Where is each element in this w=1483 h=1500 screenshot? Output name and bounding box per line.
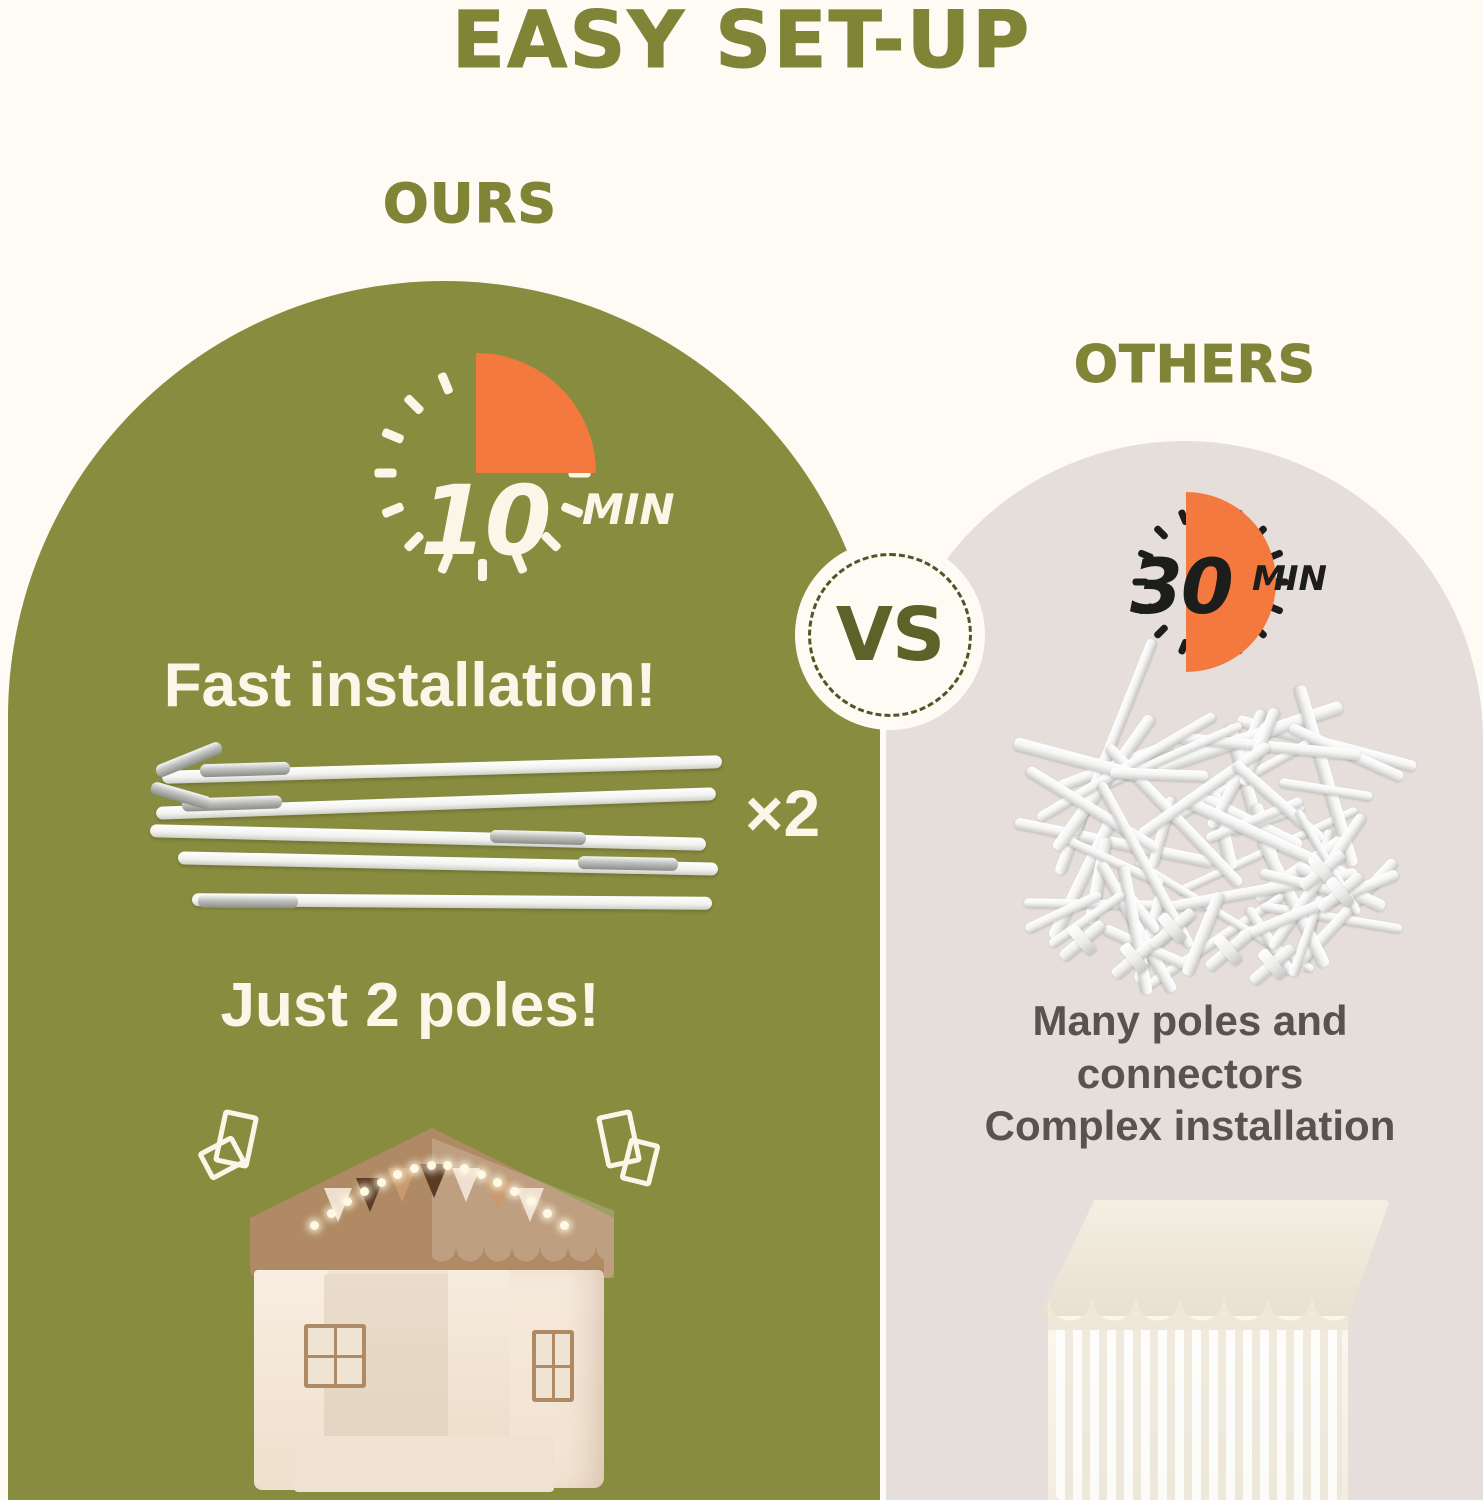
playhouse-sheer-curtains bbox=[1056, 1322, 1342, 1500]
bunting-flag bbox=[452, 1168, 480, 1202]
tent-window-right bbox=[532, 1330, 574, 1402]
tent-window-left bbox=[304, 1324, 366, 1388]
timer-tick bbox=[560, 501, 584, 518]
others-timer-value: 30 bbox=[1130, 542, 1232, 631]
pole-ferrule bbox=[490, 830, 586, 845]
timer-tick bbox=[380, 427, 404, 444]
bunting-flag bbox=[388, 1168, 416, 1202]
string-light-bulb bbox=[510, 1187, 519, 1196]
others-timer-unit: MIN bbox=[1252, 559, 1327, 599]
string-light-bulb bbox=[427, 1161, 436, 1170]
ours-caption-primary: Fast installation! bbox=[60, 650, 760, 721]
ours-caption-secondary: Just 2 poles! bbox=[60, 970, 760, 1041]
others-caption-line-2: connectors bbox=[950, 1048, 1430, 1101]
pole-ferrule bbox=[200, 762, 290, 778]
string-light-bulb bbox=[310, 1221, 319, 1230]
ours-poles-illustration bbox=[150, 745, 730, 920]
string-light-bulb bbox=[377, 1178, 386, 1187]
string-light-bulb bbox=[560, 1221, 569, 1230]
timer-tick bbox=[437, 371, 454, 395]
versus-badge: VS bbox=[795, 540, 985, 730]
others-poles-pile-illustration bbox=[995, 705, 1365, 980]
others-timer-icon: 30 MIN bbox=[1100, 487, 1320, 677]
tent-floor bbox=[294, 1436, 554, 1492]
pole-ferrule bbox=[578, 856, 678, 871]
versus-label: VS bbox=[836, 592, 945, 678]
string-light-bulb bbox=[360, 1187, 369, 1196]
others-caption: Many poles and connectors Complex instal… bbox=[950, 995, 1430, 1153]
ours-timer-value: 10 bbox=[420, 465, 550, 577]
others-caption-line-3: Complex installation bbox=[950, 1100, 1430, 1153]
string-light-bulb bbox=[327, 1209, 336, 1218]
ours-pole-multiplier: ×2 bbox=[745, 775, 820, 851]
page-title: EASY SET-UP bbox=[0, 0, 1483, 86]
infographic-root: EASY SET-UP OURS OTHERS 10 MIN 30 MIN VS… bbox=[0, 0, 1483, 1500]
others-product-image bbox=[1030, 1200, 1398, 1500]
string-light-bulb bbox=[477, 1170, 486, 1179]
pole-ferrule bbox=[198, 895, 298, 909]
ours-heading: OURS bbox=[330, 172, 610, 235]
others-heading: OTHERS bbox=[1030, 335, 1360, 395]
ours-timer-unit: MIN bbox=[582, 485, 675, 534]
timer-tick bbox=[374, 468, 396, 477]
tent-bunting bbox=[324, 1162, 554, 1224]
timer-tick bbox=[402, 393, 424, 415]
ours-product-image bbox=[232, 1128, 632, 1500]
others-caption-line-1: Many poles and bbox=[950, 995, 1430, 1048]
string-light-bulb bbox=[493, 1178, 502, 1187]
timer-tick bbox=[1152, 524, 1168, 540]
tent-pole bbox=[150, 824, 706, 851]
playhouse-scalloped-valance bbox=[1048, 1300, 1348, 1330]
timer-tick bbox=[380, 501, 404, 518]
ours-timer-icon: 10 MIN bbox=[332, 345, 632, 600]
